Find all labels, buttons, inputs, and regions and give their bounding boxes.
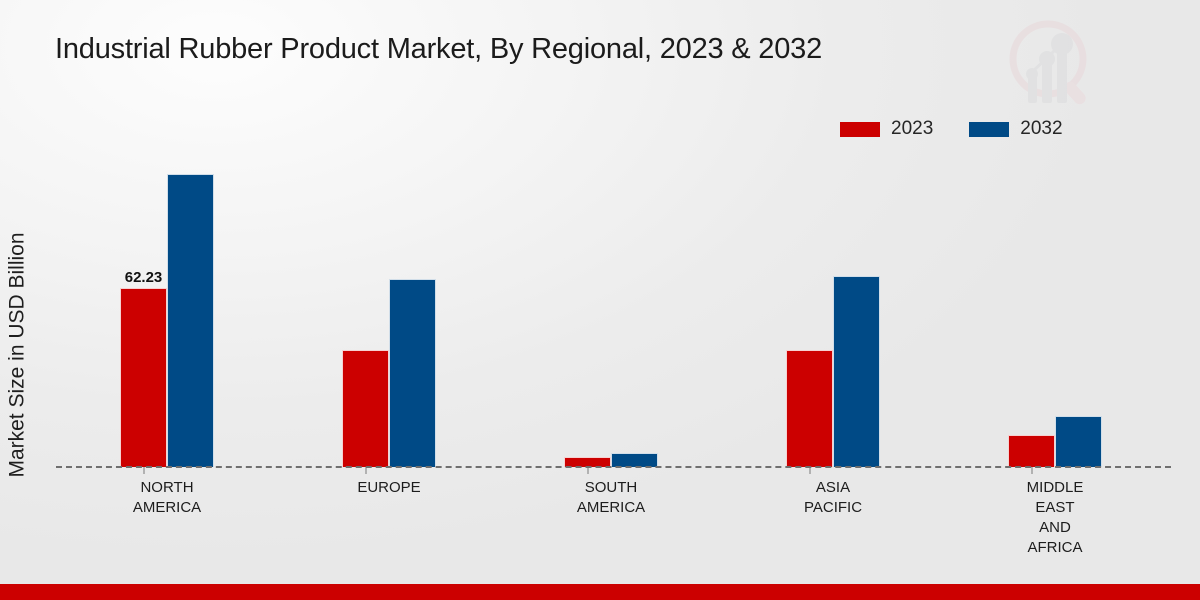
bar-2023[interactable]: 62.23 bbox=[120, 288, 167, 467]
plot-area: 62.23 bbox=[56, 150, 1166, 467]
x-axis-tick bbox=[143, 467, 144, 474]
bar-group: 62.23 bbox=[56, 150, 278, 467]
bar-group bbox=[722, 150, 944, 467]
chart-legend: 2023 2032 bbox=[840, 118, 1063, 140]
x-axis-tick-label: SOUTH AMERICA bbox=[500, 478, 722, 518]
bar-2032[interactable] bbox=[167, 174, 214, 467]
bar-2032[interactable] bbox=[1055, 416, 1102, 467]
magnifying-glass-bar-chart-logo-watermark bbox=[1000, 16, 1108, 112]
x-axis-tick bbox=[365, 467, 366, 474]
y-axis-title-text: Market Size in USD Billion bbox=[6, 232, 30, 477]
y-axis-title: Market Size in USD Billion bbox=[0, 175, 36, 535]
bar-group bbox=[944, 150, 1166, 467]
bar-2023[interactable] bbox=[342, 350, 389, 467]
bar-2023[interactable] bbox=[786, 350, 833, 467]
bar-2032[interactable] bbox=[611, 453, 658, 467]
bar-2032[interactable] bbox=[833, 276, 880, 467]
x-axis-tick-label: EUROPE bbox=[278, 478, 500, 498]
legend-label-2032: 2032 bbox=[1020, 118, 1062, 140]
bar-2023[interactable] bbox=[1008, 435, 1055, 467]
legend-swatch-2032 bbox=[969, 122, 1009, 137]
x-axis-tick-label: MIDDLE EAST AND AFRICA bbox=[944, 478, 1166, 558]
legend-item-2023[interactable]: 2023 bbox=[840, 118, 933, 140]
bar-value-label: 62.23 bbox=[125, 269, 163, 286]
x-axis-tick bbox=[1031, 467, 1032, 474]
chart-page: Industrial Rubber Product Market, By Reg… bbox=[0, 0, 1200, 600]
x-axis-tick bbox=[809, 467, 810, 474]
bar-group bbox=[278, 150, 500, 467]
x-axis-tick bbox=[587, 467, 588, 474]
bar-group bbox=[500, 150, 722, 467]
legend-swatch-2023 bbox=[840, 122, 880, 137]
legend-label-2023: 2023 bbox=[891, 118, 933, 140]
x-axis-tick-label: ASIA PACIFIC bbox=[722, 478, 944, 518]
x-axis-baseline bbox=[56, 466, 1171, 468]
bottom-accent-strip bbox=[0, 584, 1200, 600]
x-axis-tick-label: NORTH AMERICA bbox=[56, 478, 278, 518]
bar-2032[interactable] bbox=[389, 279, 436, 467]
chart-title: Industrial Rubber Product Market, By Reg… bbox=[55, 33, 822, 66]
legend-item-2032[interactable]: 2032 bbox=[969, 118, 1062, 140]
